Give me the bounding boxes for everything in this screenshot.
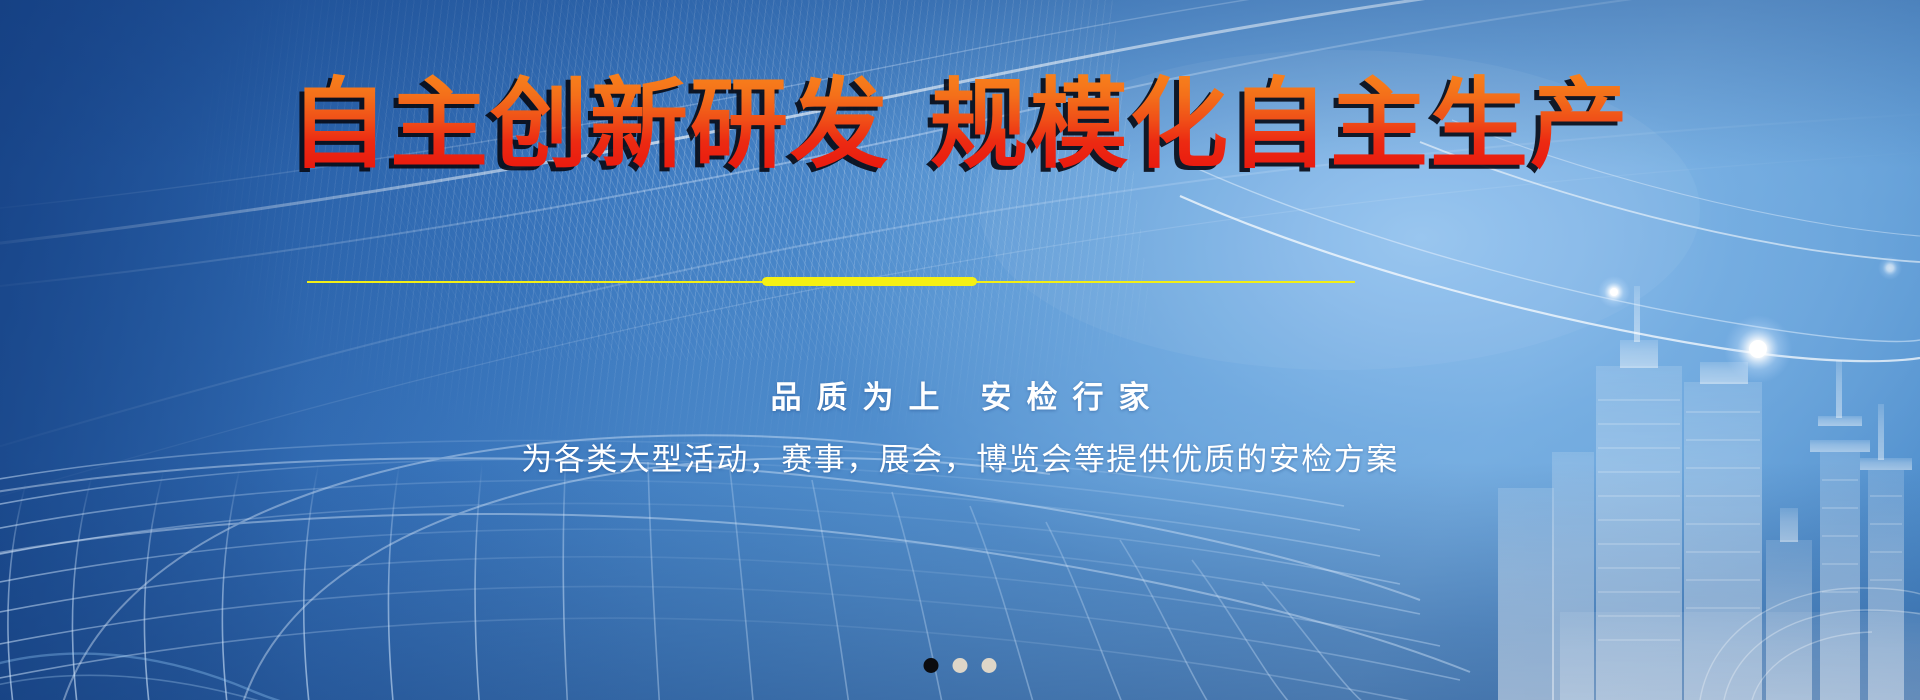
carousel-dot-3[interactable] — [982, 658, 997, 673]
banner-subline: 为各类大型活动，赛事，展会，博览会等提供优质的安检方案 — [0, 434, 1920, 479]
hero-banner: 自主创新研发规模化自主生产 品质为上安检行家 为各类大型活动，赛事，展会，博览会… — [0, 0, 1920, 700]
carousel-dots[interactable] — [924, 658, 997, 673]
yellow-divider — [307, 276, 1355, 288]
banner-headline: 自主创新研发规模化自主生产 — [0, 72, 1920, 178]
headline-part-1: 自主创新研发 — [290, 69, 890, 179]
tagline-left: 品质为上 — [771, 380, 955, 415]
headline-part-2: 规模化自主生产 — [930, 69, 1630, 179]
carousel-dot-2[interactable] — [953, 658, 968, 673]
banner-content: 自主创新研发规模化自主生产 品质为上安检行家 为各类大型活动，赛事，展会，博览会… — [0, 0, 1920, 700]
carousel-dot-1[interactable] — [924, 658, 939, 673]
divider-thick-segment — [762, 277, 977, 286]
tagline-right: 安检行家 — [981, 380, 1165, 415]
banner-tagline: 品质为上安检行家 — [0, 372, 1920, 417]
